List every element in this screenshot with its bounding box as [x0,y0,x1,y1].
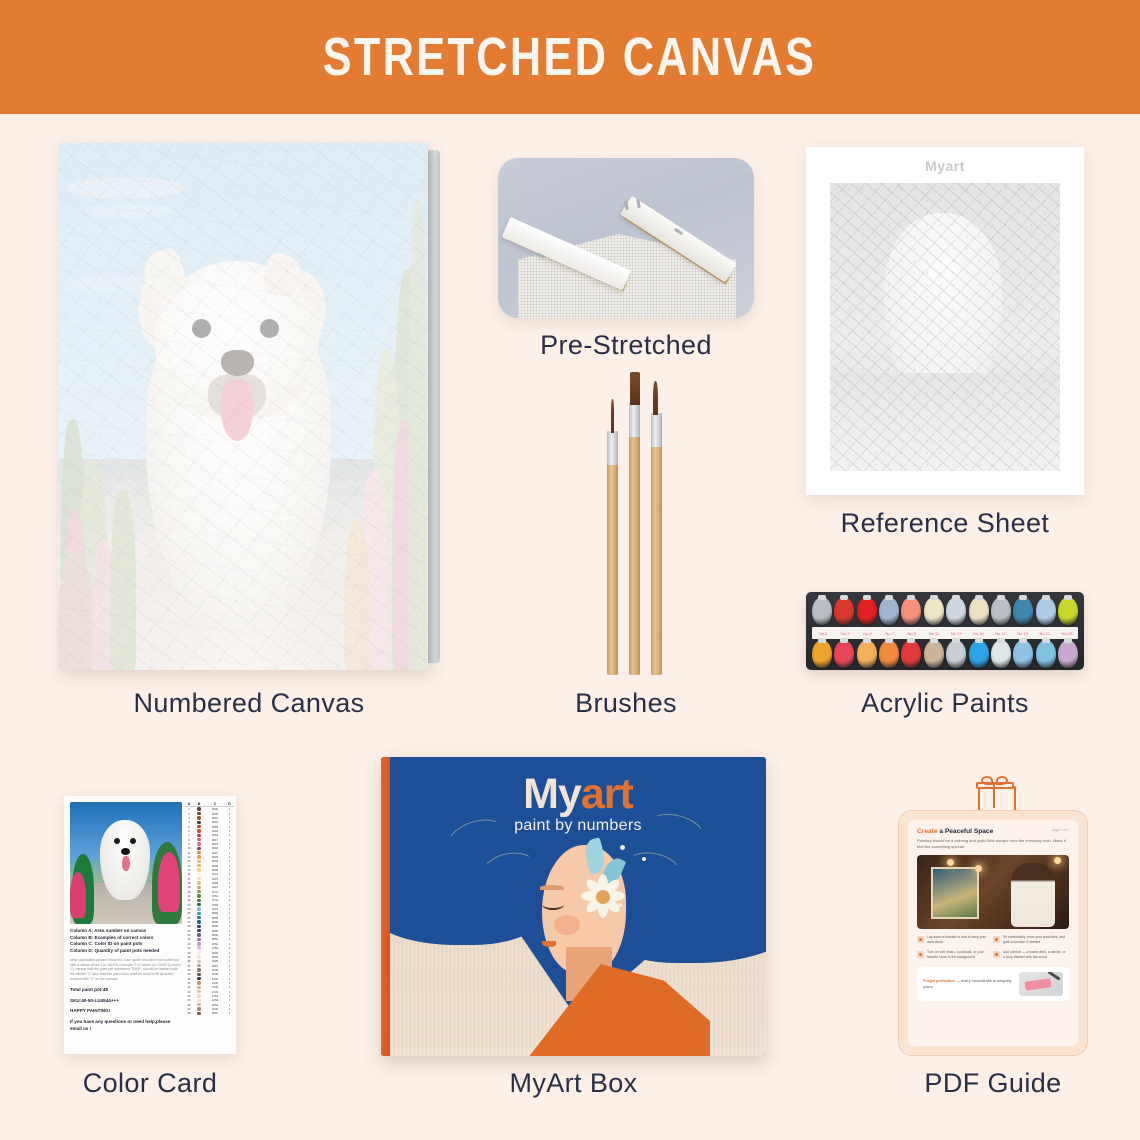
cell-color-swatch [193,1003,205,1006]
paint-code-label: No.5 [856,631,878,636]
cell-color-swatch [193,999,205,1002]
photo-flowers-right [158,852,180,912]
cell-color-swatch [193,973,205,976]
cell-color-swatch [193,868,205,871]
brushes-product [585,385,675,675]
pre-stretched-label: Pre-Stretched [498,330,754,361]
brushes-label: Brushes [498,688,754,719]
gift-ribbon [993,782,995,808]
pdf-guide-page: page 1 of 1 Create a Peaceful Space Pain… [908,820,1078,1046]
paint-code-label: No.23 [1056,631,1078,636]
total-paint-pot: Total paint pot:48 [70,987,108,992]
paint-pot [1013,640,1033,668]
paint-row-bottom [812,640,1078,669]
cell-color-swatch [193,942,205,945]
paint-pot [834,640,854,668]
cell-color-swatch [193,938,205,941]
tip-text: Add comfort — a warm drink, a candle, or… [1003,950,1066,960]
paint-pot [857,640,877,668]
legend-line-d: Column D: Quantity of paint pots needed [70,948,159,953]
acrylic-paints-product: No.1No.3No.5No.7No.9No.11No.13No.15No.17… [806,592,1084,670]
paint-code-label: No.21 [1034,631,1056,636]
happy-painting-text: HAPPY PAINTING! [70,1008,110,1013]
cell-color-swatch [193,920,205,923]
cell-color-swatch [193,977,205,980]
cell-color-swatch [193,946,205,949]
cell-color-swatch [193,886,205,889]
pdf-guide-label: PDF Guide [880,1068,1106,1099]
cell-color-swatch [193,981,205,984]
paint-pot [834,597,854,625]
tip-text: Lay down a blanket or mat to keep your a… [927,935,990,945]
callout-bold: Forget perfection [923,978,955,983]
photo-dog-tongue [122,856,130,871]
paint-pot [857,597,877,625]
color-card-left-column: Column A: Area number on canvas Column B… [70,802,182,1048]
color-table-body: 1000012000413000714000215006516013417015… [185,807,234,1016]
cell-color-swatch [193,929,205,932]
tip-bullet-icon [993,951,1000,958]
warm-light-icon [947,859,954,866]
pdf-tip-item: Add comfort — a warm drink, a candle, or… [993,950,1069,960]
paint-row-top [812,597,1078,626]
cell-color-swatch [193,955,205,958]
cell-color-swatch [193,855,205,858]
cell-color-swatch [193,933,205,936]
gift-box-body [978,786,1016,812]
cell-color-swatch [193,807,205,810]
paint-label-strip: No.1No.3No.5No.7No.9No.11No.13No.15No.17… [812,627,1078,639]
myart-box-label: MyArt Box [381,1068,766,1099]
col-header-c: C [205,802,225,806]
color-card-product: Column A: Area number on canvas Column B… [64,796,236,1054]
brush-bristles-round [653,381,658,415]
gift-bow-right [996,776,1008,785]
cell-color-swatch [193,851,205,854]
brush-ferrule-round [651,413,662,447]
decorative-dot [618,903,622,907]
acrylic-paints-label: Acrylic Paints [806,688,1084,719]
cell-color-swatch [193,894,205,897]
paint-pot [1036,640,1056,668]
cell-color-swatch [193,816,205,819]
cell-color-swatch [193,873,205,876]
pdf-tip-item: Lay down a blanket or mat to keep your a… [917,935,993,945]
tip-bullet-icon [993,936,1000,943]
cell-color-swatch [193,838,205,841]
cell-color-swatch [193,925,205,928]
logo-my-text: My [523,770,581,818]
cell-color-swatch [193,864,205,867]
brush-ferrule-thin [607,431,618,465]
reference-sheet-label: Reference Sheet [806,508,1084,539]
color-card-legend: Column A: Area number on canvas Column B… [70,928,182,955]
easel-with-painting [931,867,979,919]
cell-color-swatch [193,821,205,824]
pre-stretched-photo [498,158,754,318]
pdf-tip-item: Turn on soft music, a podcast, or your f… [917,950,993,960]
logo-art-text: art [581,770,633,818]
canvas-side-edge [428,150,440,663]
paint-pot [901,597,921,625]
paint-pot [991,640,1011,668]
cell-color-swatch [193,890,205,893]
cell-color-swatch [193,960,205,963]
paint-code-label: No.15 [967,631,989,636]
paint-pot [879,597,899,625]
brush-ferrule-flat [629,403,640,437]
warm-light-icon [1054,857,1061,864]
paint-code-label: No.1 [812,631,834,636]
paint-pot [812,640,832,668]
cell-color-swatch [193,829,205,832]
paint-pot [1013,597,1033,625]
woman-eyebrow [540,885,564,890]
paint-pot [924,597,944,625]
myart-logo-text: Myart [806,158,1084,174]
paint-code-label: No.3 [834,631,856,636]
color-table-row: 4825071 [185,1011,234,1015]
cell-color-swatch [193,951,205,954]
legend-line-a: Column A: Area number on canvas [70,928,146,933]
woman-painting-figure [1011,863,1055,927]
decorative-dot [620,845,625,850]
canvas-unpainted-veil [58,143,428,670]
color-card-label: Color Card [40,1068,260,1099]
cell-color-swatch [193,860,205,863]
brush-handle-round [651,439,662,675]
cell-color-swatch [193,968,205,971]
warm-light-icon [975,865,982,872]
brush-handle-flat [629,427,640,675]
paint-code-label: No.13 [945,631,967,636]
brush-bristles-flat [630,372,640,405]
cell-quantity: 1 [225,1011,234,1015]
cell-color-swatch [193,990,205,993]
brush-bristles-thin [611,399,614,433]
paint-pot [812,597,832,625]
myart-brand-logo: Myart [390,770,766,819]
cell-color-swatch [193,916,205,919]
cell-color-swatch [193,812,205,815]
tip-bullet-icon [917,936,924,943]
pdf-tip-item: Sit comfortably, relax your shoulders, a… [993,935,1069,945]
cell-color-swatch [193,1007,205,1010]
cell-color-swatch [193,881,205,884]
pdf-heading-rest: a Peaceful Space [938,828,994,835]
pdf-page-number: page 1 of 1 [1052,828,1069,832]
col-header-a: A [185,802,193,806]
color-card-reference-photo [70,802,182,924]
cell-color-swatch [193,847,205,850]
paint-pot [1058,640,1078,668]
paint-pot [969,597,989,625]
col-header-b: B [193,802,205,806]
pdf-heading: Create a Peaceful Space [917,828,1069,835]
box-orange-edge [381,757,390,1056]
callout-text: Forget perfection — every brushstroke is… [923,978,1015,990]
pdf-callout: Forget perfection — every brushstroke is… [917,967,1069,1001]
paint-pot [946,597,966,625]
woman-cheek-blush [554,915,580,935]
cell-color-swatch [193,825,205,828]
photo-dog-eye [130,838,136,844]
paint-pot [1058,597,1078,625]
box-artwork: Myart paint by numbers [390,757,766,1056]
paint-code-label: No.17 [989,631,1011,636]
tip-text: Turn on soft music, a podcast, or your f… [927,950,990,960]
photo-dog-eye [114,838,120,844]
numbered-canvas-product [58,143,440,670]
paint-pot [924,640,944,668]
paint-code-label: No.19 [1012,631,1034,636]
paint-pot [879,640,899,668]
tip-text: Sit comfortably, relax your shoulders, a… [1003,935,1066,945]
legend-line-c: Column C: Color ID on paint pots [70,941,142,946]
paint-pot [991,597,1011,625]
paint-pot [901,640,921,668]
pdf-photo-woman-painting [917,855,1069,929]
myart-box-product: Myart paint by numbers [381,757,766,1056]
cell-color-swatch [193,994,205,997]
reference-sheet-image [830,183,1060,471]
page-header: STRETCHED CANVAS [0,0,1140,114]
color-card-fine-print: when applicable,please follow this color… [70,958,182,982]
reference-sheet-product: Myart [806,147,1084,495]
paint-code-label: No.11 [923,631,945,636]
decorative-dot [642,857,646,861]
gift-icon [976,776,1014,808]
paint-pot [1036,597,1056,625]
pdf-guide-card: page 1 of 1 Create a Peaceful Space Pain… [898,810,1088,1056]
pdf-tips-list: Lay down a blanket or mat to keep your a… [917,935,1069,965]
col-header-d: D [225,802,234,806]
cell-color-id: 2507 [205,1011,225,1015]
pdf-guide-product: page 1 of 1 Create a Peaceful Space Pain… [898,776,1088,1056]
cell-color-swatch [193,986,205,989]
pdf-subtitle: Painting should be a calming and joyful … [917,838,1069,850]
paint-pot [969,640,989,668]
paint-code-label: No.7 [879,631,901,636]
cell-color-swatch [193,1012,205,1015]
sku-label: SKU:40-50-LU4544+++ [70,998,119,1003]
gift-bow-left [981,776,993,785]
paint-code-label: No.9 [901,631,923,636]
box-tagline: paint by numbers [390,817,766,835]
photo-flowers-left [70,872,86,918]
callout-thumbnail [1019,972,1063,996]
cell-color-swatch [193,964,205,967]
woman-closed-eye [542,899,564,910]
pdf-heading-accent: Create [917,828,938,835]
cell-color-swatch [193,907,205,910]
cell-color-swatch [193,842,205,845]
daisy-center [596,890,610,904]
daisy-flower [580,873,626,919]
contact-text: If you have any questions or need help,p… [70,1019,170,1031]
photo-dog-nose [121,848,130,855]
cell-area-number: 48 [185,1011,193,1015]
cell-color-swatch [193,912,205,915]
woman-lips [542,941,556,947]
cell-color-swatch [193,903,205,906]
page-title: STRETCHED CANVAS [323,26,817,88]
reference-numbers [830,183,1060,471]
brush-handle-thin [607,463,618,675]
canvas-face [58,143,428,670]
color-card-table: A B C D 10000120004130007140002150065160… [185,802,234,1048]
cell-color-swatch [193,877,205,880]
numbered-canvas-label: Numbered Canvas [58,688,440,719]
cell-color-swatch [193,834,205,837]
cell-color-swatch [193,899,205,902]
tip-bullet-icon [917,951,924,958]
paint-pot [946,640,966,668]
legend-line-b: Column B: Examples of correct colors [70,935,153,940]
